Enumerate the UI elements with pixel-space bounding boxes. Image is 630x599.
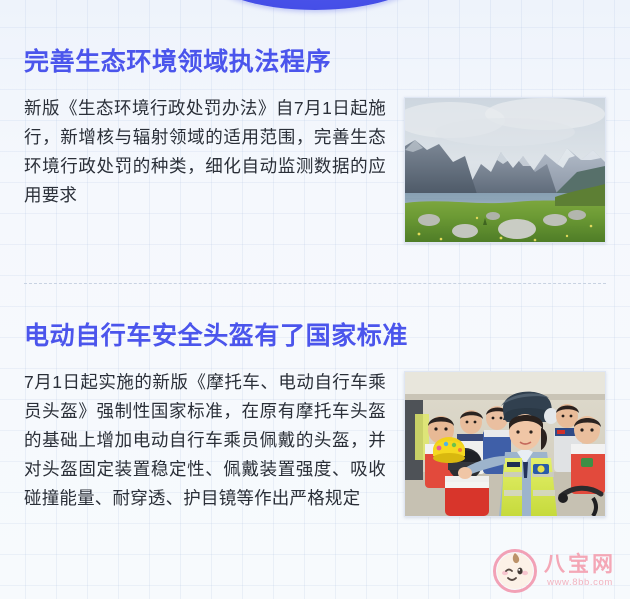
- article-body-1: 新版《生态环境行政处罚办法》自7月1日起施行，新增核与辐射领域的适用范围，完善生…: [24, 94, 606, 249]
- content-area: 完善生态环境领域执法程序: [0, 0, 630, 523]
- article-body-2: 7月1日起实施的新版《摩托车、电动自行车乘员头盔》强制性国家标准，在原有摩托车头…: [24, 368, 606, 523]
- mountain-lake-grassland-illustration: [405, 98, 605, 242]
- watermark-site-url: www.8bb.com: [547, 578, 613, 588]
- police-officer-helmet-illustration: [405, 372, 605, 516]
- article-headline-2: 电动自行车安全头盔有了国家标准: [24, 321, 606, 351]
- article-headline-1: 完善生态环境领域执法程序: [24, 47, 606, 77]
- watermark-site-name: 八宝网: [544, 554, 616, 575]
- police-officer-helmet-demo-photo: [404, 371, 606, 517]
- baby-face-logo: [493, 549, 537, 593]
- article-page: 完善生态环境领域执法程序: [0, 0, 630, 599]
- watermark-text: 八宝网 www.8bb.com: [544, 554, 616, 588]
- article-section-2: 电动自行车安全头盔有了国家标准: [0, 285, 630, 523]
- mountain-lake-grassland-photo: [404, 97, 606, 243]
- article-section-1: 完善生态环境领域执法程序: [0, 0, 630, 249]
- watermark: 八宝网 www.8bb.com: [493, 549, 616, 593]
